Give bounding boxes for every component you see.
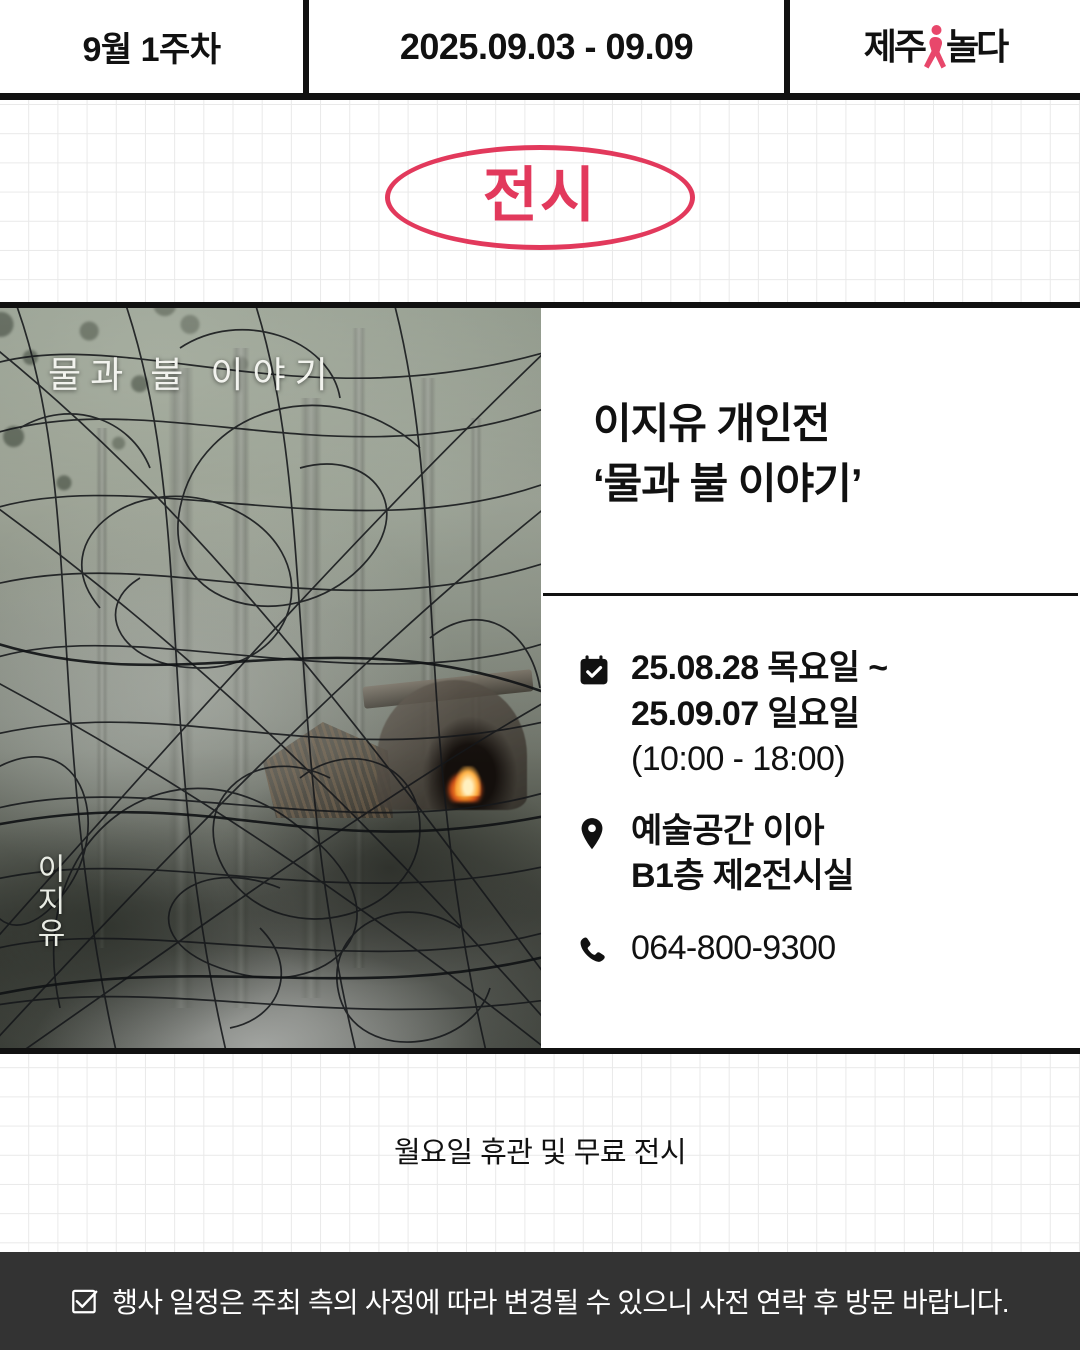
checkbox-checked-icon <box>71 1288 98 1315</box>
event-time-line: (10:00 - 18:00) <box>631 737 888 783</box>
calendar-icon <box>577 646 631 688</box>
header-date-range: 2025.09.03 - 09.09 <box>309 0 784 97</box>
event-venue-name: 예술공간 이아 <box>631 809 854 855</box>
artwork-title: 물과 불 이야기 <box>48 346 337 398</box>
category-badge: 전시 <box>385 145 695 250</box>
event-date-text: 25.08.28 목요일 ~ 25.09.07 일요일 (10:00 - 18:… <box>631 646 888 783</box>
event-title-line-2: ‘물과 불 이야기’ <box>593 454 862 514</box>
event-card: 물과 불 이야기 이지유 이지유 개인전 ‘물과 불 이야기’ <box>0 302 1080 1054</box>
location-pin-icon <box>577 809 631 851</box>
event-info-panel: 이지유 개인전 ‘물과 불 이야기’ <box>541 308 1080 1048</box>
event-poster: 9월 1주차 2025.09.03 - 09.09 제주 놀다 전시 <box>0 0 1080 1350</box>
logo-wrap: 제주 놀다 <box>864 12 1007 82</box>
event-note-text: 월요일 휴관 및 무료 전시 <box>394 1129 686 1171</box>
logo-text-left: 제주 <box>864 29 924 65</box>
header-week-label: 9월 1주차 <box>0 0 303 97</box>
event-phone-text: 064-800-9300 <box>631 926 836 972</box>
event-phone-row[interactable]: 064-800-9300 <box>577 926 1077 972</box>
event-date-line-2: 25.09.07 일요일 <box>631 692 888 738</box>
event-phone-number: 064-800-9300 <box>631 929 836 967</box>
event-title: 이지유 개인전 ‘물과 불 이야기’ <box>593 394 862 513</box>
artwork-artist-name: 이지유 <box>26 853 70 949</box>
phone-icon <box>577 926 631 966</box>
info-detail-rows: 25.08.28 목요일 ~ 25.09.07 일요일 (10:00 - 18:… <box>577 646 1077 997</box>
event-note: 월요일 휴관 및 무료 전시 <box>0 1120 1080 1180</box>
poster-footer: 행사 일정은 주최 측의 사정에 따라 변경될 수 있으니 사전 연락 후 방문… <box>0 1252 1080 1350</box>
brand-logo[interactable]: 제주 놀다 <box>790 0 1080 97</box>
logo-text-right: 놀다 <box>946 29 1006 65</box>
event-location-text: 예술공간 이아 B1층 제2전시실 <box>631 809 854 900</box>
artwork-line-overlay <box>0 308 541 1048</box>
footer-disclaimer-text: 행사 일정은 주최 측의 사정에 따라 변경될 수 있으니 사전 연락 후 방문… <box>112 1281 1008 1321</box>
artwork-image: 물과 불 이야기 이지유 <box>0 308 541 1048</box>
event-date-line-1: 25.08.28 목요일 ~ <box>631 646 888 692</box>
info-divider-rule <box>543 593 1078 596</box>
category-badge-label: 전시 <box>483 166 597 226</box>
event-title-line-1: 이지유 개인전 <box>593 394 862 454</box>
event-location-row: 예술공간 이아 B1층 제2전시실 <box>577 809 1077 900</box>
event-date-row: 25.08.28 목요일 ~ 25.09.07 일요일 (10:00 - 18:… <box>577 646 1077 783</box>
event-venue-room: B1층 제2전시실 <box>631 854 854 900</box>
person-figure-icon <box>922 24 948 70</box>
poster-header: 9월 1주차 2025.09.03 - 09.09 제주 놀다 <box>0 0 1080 100</box>
